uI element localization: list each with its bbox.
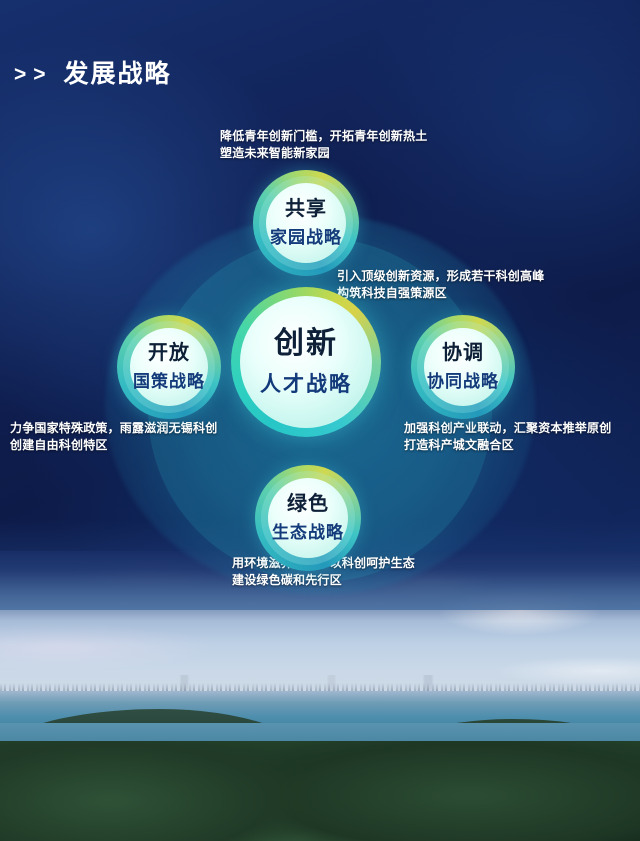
node-label-secondary: 家园战略	[270, 228, 342, 248]
page-title: >> 发展战略	[14, 62, 172, 87]
annotation-top: 降低青年创新门槛，开拓青年创新热土 塑造未来智能新家园	[220, 128, 427, 162]
node-labels: 创新 人才战略	[260, 326, 352, 397]
node-label-secondary: 协同战略	[427, 372, 499, 392]
node-label-primary: 开放	[148, 342, 190, 366]
node-label-primary: 共享	[285, 198, 327, 222]
annotation-bottom-right: 加强科创产业联动，汇聚资本推举原创 打造科产城文融合区	[404, 420, 611, 454]
strategy-node-coordination[interactable]: 协调 协同战略	[411, 315, 515, 419]
node-labels: 开放 国策战略	[133, 342, 205, 393]
photo-forest-hills	[0, 741, 640, 841]
node-label-secondary: 生态战略	[272, 523, 344, 543]
annotation-right: 引入顶级创新资源，形成若干科创高峰 构筑科技自强策源区	[337, 268, 544, 302]
node-label-primary: 绿色	[287, 493, 329, 517]
slide-canvas: >> 发展战略 降低青年创新门槛，开拓青年创新热土 塑造未来智能新家园 引入顶级…	[0, 0, 640, 841]
node-label-primary: 创新	[274, 326, 338, 361]
strategy-node-open-policy[interactable]: 开放 国策战略	[117, 315, 221, 419]
strategy-node-green-ecology[interactable]: 绿色 生态战略	[255, 465, 361, 571]
node-labels: 协调 协同战略	[427, 342, 499, 393]
annotation-left: 力争国家特殊政策，雨露滋润无锡科创 创建自由科创特区	[10, 420, 217, 454]
node-label-secondary: 国策战略	[133, 372, 205, 392]
node-labels: 共享 家园战略	[270, 198, 342, 249]
strategy-node-innovation-talent[interactable]: 创新 人才战略	[231, 287, 381, 437]
strategy-node-shared-home[interactable]: 共享 家园战略	[253, 170, 359, 276]
chevron-right-icon: >>	[14, 64, 53, 85]
node-label-secondary: 人才战略	[260, 373, 352, 398]
node-labels: 绿色 生态战略	[272, 493, 344, 544]
node-label-primary: 协调	[442, 342, 484, 366]
page-title-text: 发展战略	[64, 62, 172, 87]
